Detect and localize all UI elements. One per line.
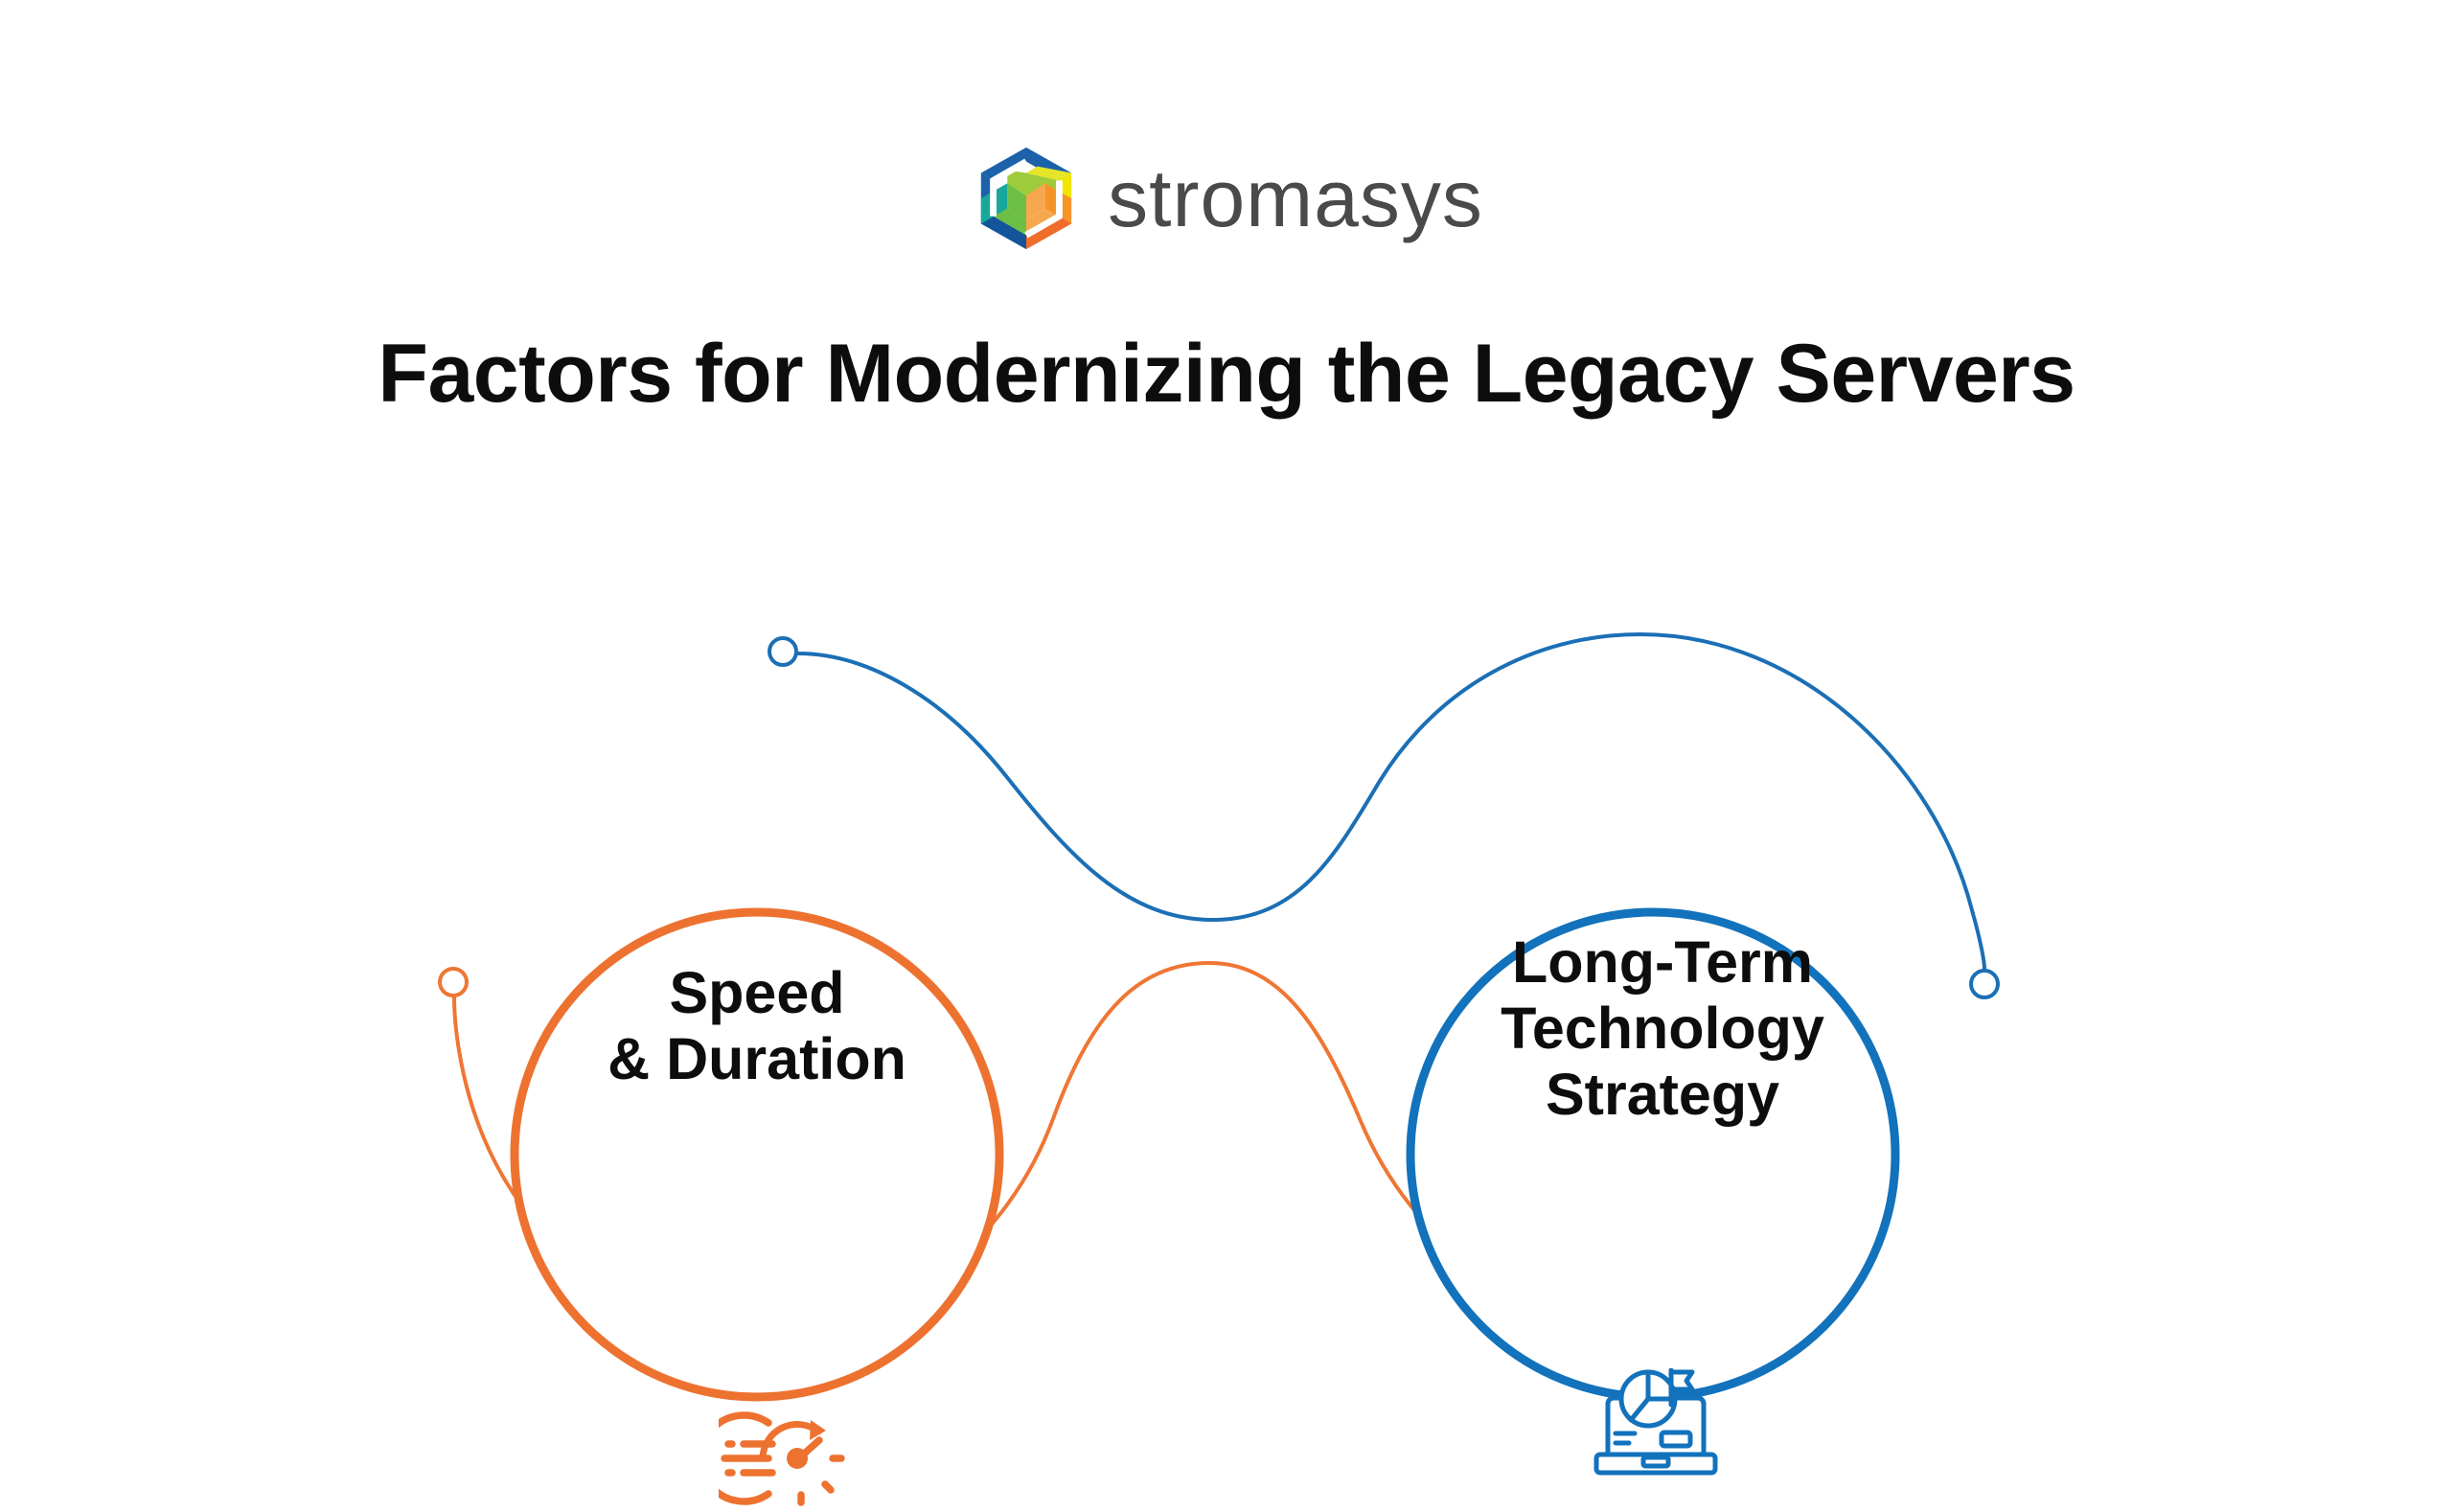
page-title: Factors for Modernizing the Legacy Serve… xyxy=(0,331,2453,417)
speedometer-icon xyxy=(719,1397,853,1512)
brand-header: stromasys xyxy=(0,142,2453,255)
node-circle-long-term-technology-strategy[interactable] xyxy=(1410,912,1895,1397)
endpoint-ring-left xyxy=(440,969,467,996)
brand-wordmark: stromasys xyxy=(1108,158,1483,239)
diagram-canvas xyxy=(0,575,2453,1437)
node-circle-speed-duration[interactable] xyxy=(515,912,999,1397)
laptop-pie-chart-flag-icon xyxy=(1591,1368,1720,1493)
endpoint-ring-top-left xyxy=(769,638,796,665)
diagram-two-node-infinity: Speed & Duration Long-Term Technology St… xyxy=(0,575,2453,1437)
stromasys-hexagon-swirl-logo xyxy=(970,142,1083,255)
endpoint-ring-right xyxy=(1971,971,1998,997)
blue-top-connector-path xyxy=(798,634,1984,969)
